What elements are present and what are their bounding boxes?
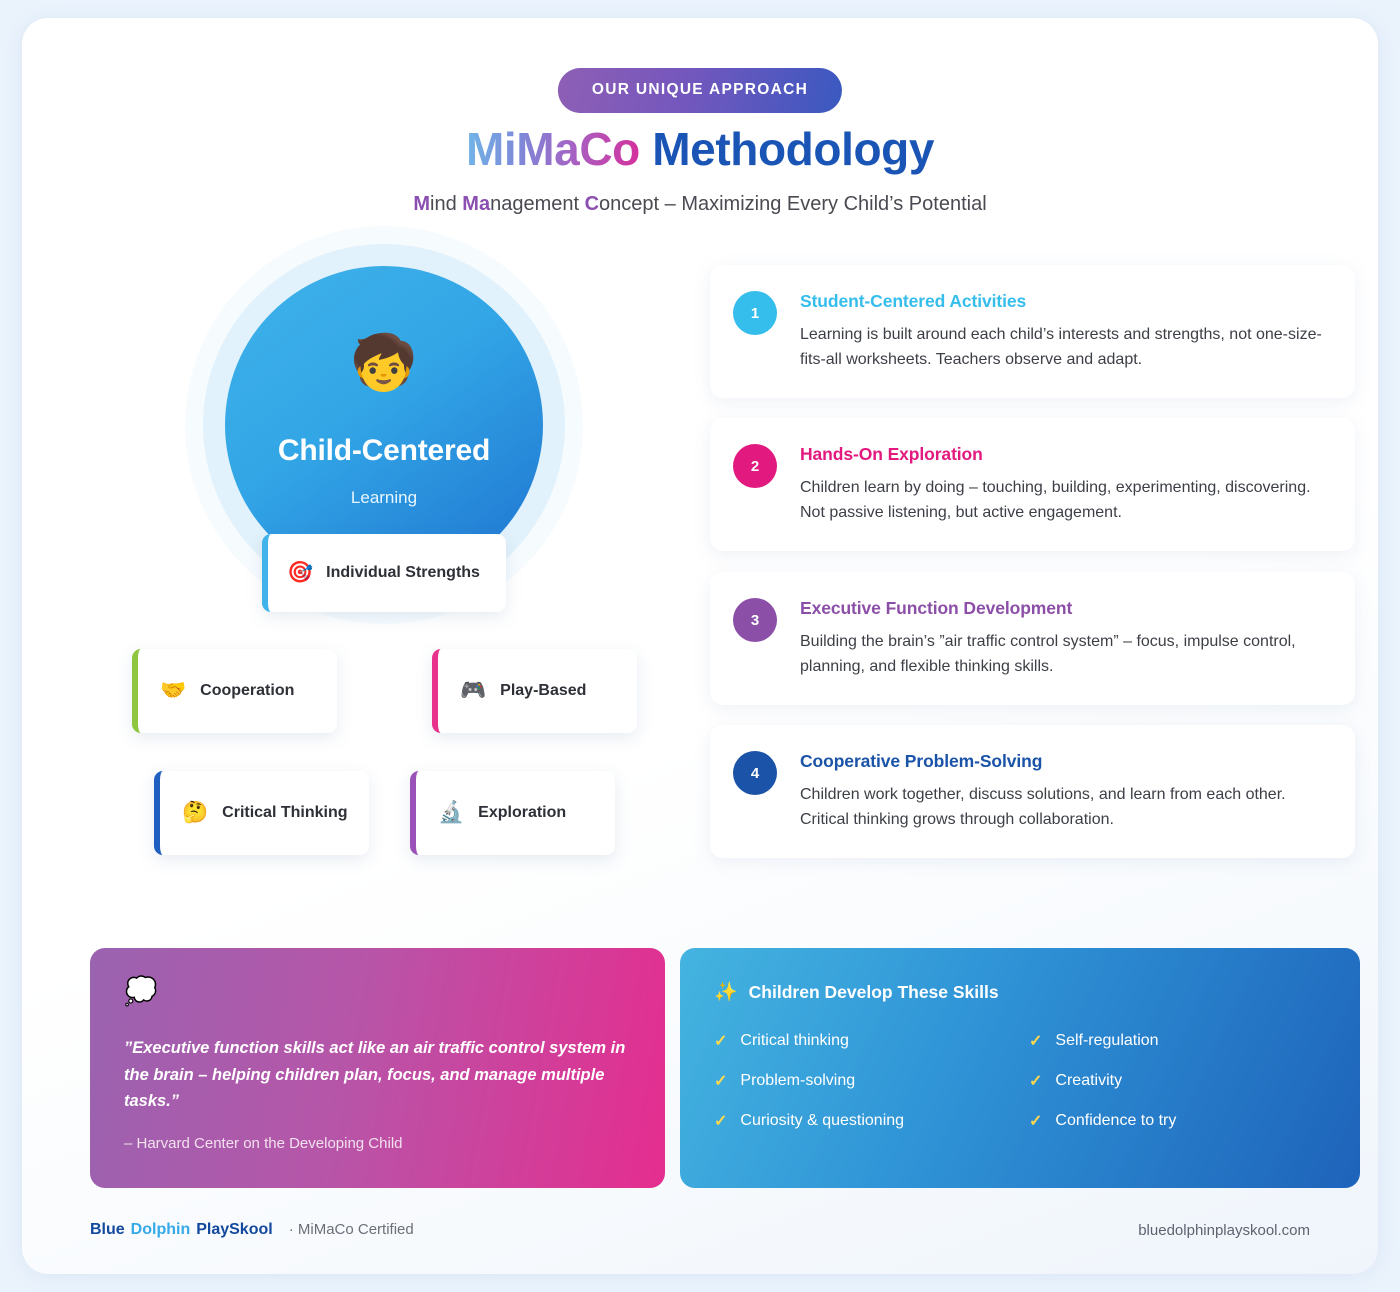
footer-website: bluedolphinplayskool.com [1138,1222,1310,1239]
brand-word-playskool: PlaySkool [196,1221,272,1239]
page-title: MiMaCo Methodology [22,122,1378,176]
check-icon: ✓ [714,1071,727,1091]
step-number-badge: 4 [733,751,777,795]
mini-card-exploration[interactable]: 🔬 Exploration [410,771,615,855]
mini-card-label: Exploration [478,804,566,822]
step-title: Hands-On Exploration [800,444,1327,465]
mini-card-play-based[interactable]: 🎮 Play-Based [432,649,637,733]
step-card-3[interactable]: 3 Executive Function Development Buildin… [710,572,1355,705]
step-body: Building the brain’s ”air traffic contro… [800,630,1327,680]
subtitle-part: C [585,193,599,215]
brand-word-blue: Blue [90,1221,125,1239]
step-card-2[interactable]: 2 Hands-On Exploration Children learn by… [710,418,1355,551]
hero-subtitle: Learning [225,488,543,508]
dart-target-emoji: 🎯 [287,561,313,585]
skill-item: ✓Curiosity & questioning [714,1111,1029,1131]
mini-card-critical-thinking[interactable]: 🤔 Critical Thinking [154,771,369,855]
skills-heading-row: ✨ Children Develop These Skills [714,980,1326,1004]
step-title: Executive Function Development [800,598,1327,619]
step-card-1[interactable]: 1 Student-Centered Activities Learning i… [710,265,1355,398]
approach-badge: OUR UNIQUE APPROACH [558,68,842,113]
check-icon: ✓ [714,1031,727,1051]
step-number-badge: 3 [733,598,777,642]
skills-heading: Children Develop These Skills [749,982,999,1003]
mini-card-label: Cooperation [200,682,294,700]
skills-panel: ✨ Children Develop These Skills ✓Critica… [680,948,1360,1188]
page-subtitle: Mind Management Concept – Maximizing Eve… [22,193,1378,216]
sparkles-emoji: ✨ [714,980,738,1004]
title-accent: MiMaCo [466,123,640,175]
skill-label: Problem-solving [740,1072,855,1090]
check-icon: ✓ [1029,1031,1042,1051]
step-number-badge: 1 [733,291,777,335]
brand-word-dolphin: Dolphin [131,1221,191,1239]
handshake-emoji: 🤝 [160,679,186,703]
game-controller-emoji: 🎮 [460,679,486,703]
certified-label: · MiMaCo Certified [289,1221,414,1238]
quote-attribution: – Harvard Center on the Developing Child [124,1135,631,1152]
infographic-page: OUR UNIQUE APPROACH MiMaCo Methodology M… [22,18,1378,1274]
mini-card-label: Play-Based [500,682,586,700]
skill-label: Self-regulation [1055,1032,1158,1050]
skill-item: ✓Self-regulation [1029,1031,1326,1051]
skill-label: Creativity [1055,1072,1122,1090]
mini-card-label: Critical Thinking [222,804,347,822]
child-face-emoji: 🧒 [225,336,543,390]
skill-item: ✓Confidence to try [1029,1111,1326,1131]
thinking-face-emoji: 🤔 [182,801,208,825]
subtitle-part: M [413,193,430,215]
mini-card-cooperation[interactable]: 🤝 Cooperation [132,649,337,733]
subtitle-part: ind [430,193,462,215]
check-icon: ✓ [1029,1111,1042,1131]
individual-strengths-card[interactable]: 🎯 Individual Strengths [262,534,506,612]
skills-list: ✓Critical thinking✓Self-regulation✓Probl… [714,1031,1326,1131]
hero-title: Child-Centered [225,434,543,468]
subtitle-part: nagement [490,193,585,215]
title-rest: Methodology [652,123,934,175]
step-body: Children work together, discuss solution… [800,783,1327,833]
individual-strengths-label: Individual Strengths [326,564,480,582]
skill-label: Confidence to try [1055,1112,1176,1130]
step-title: Cooperative Problem-Solving [800,751,1327,772]
step-card-4[interactable]: 4 Cooperative Problem-Solving Children w… [710,725,1355,858]
thought-balloon-emoji: 💭 [124,978,631,1005]
footer-brand: Blue Dolphin PlaySkool · MiMaCo Certifie… [90,1221,414,1239]
subtitle-part: oncept – Maximizing Every Child’s Potent… [599,193,987,215]
skill-item: ✓Creativity [1029,1071,1326,1091]
microscope-emoji: 🔬 [438,801,464,825]
step-body: Children learn by doing – touching, buil… [800,476,1327,526]
skill-label: Curiosity & questioning [740,1112,904,1130]
check-icon: ✓ [1029,1071,1042,1091]
skill-item: ✓Critical thinking [714,1031,1029,1051]
quote-text: ”Executive function skills act like an a… [124,1035,631,1115]
step-title: Student-Centered Activities [800,291,1327,312]
skill-label: Critical thinking [740,1032,848,1050]
quote-panel: 💭 ”Executive function skills act like an… [90,948,665,1188]
step-body: Learning is built around each child’s in… [800,323,1327,373]
skill-item: ✓Problem-solving [714,1071,1029,1091]
step-number-badge: 2 [733,444,777,488]
check-icon: ✓ [714,1111,727,1131]
subtitle-part: Ma [462,193,490,215]
